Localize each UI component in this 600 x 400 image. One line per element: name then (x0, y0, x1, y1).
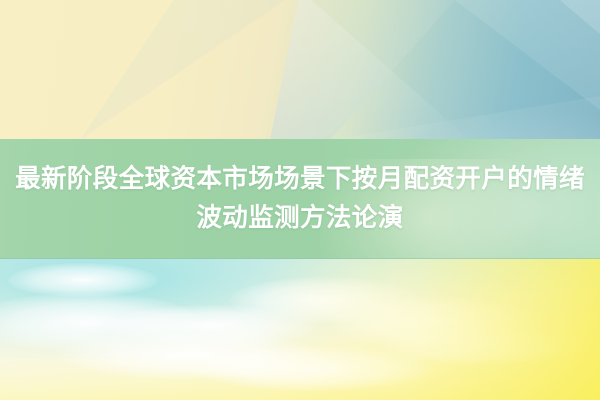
headline-band: 最新阶段全球资本市场场景下按月配资开户的情绪波动监测方法论演 (0, 139, 600, 259)
promo-banner: 最新阶段全球资本市场场景下按月配资开户的情绪波动监测方法论演 (0, 0, 600, 400)
cloud-shape (60, 331, 320, 379)
sky-yellow-wash (260, 259, 600, 400)
cloud-shape (230, 277, 420, 323)
cloud-shape (108, 305, 318, 347)
top-gradient-panel (0, 0, 600, 140)
cloud-shape (8, 263, 158, 297)
page-title: 最新阶段全球资本市场场景下按月配资开户的情绪波动监测方法论演 (4, 160, 596, 238)
cloud-shape (380, 325, 580, 365)
cloud-shape (330, 297, 545, 347)
low-poly-facets (0, 0, 600, 140)
cloud-shape (195, 347, 435, 391)
sky-gradient-panel (0, 259, 600, 400)
cloud-shape (0, 293, 200, 351)
sky-cyan-wash (0, 259, 390, 359)
